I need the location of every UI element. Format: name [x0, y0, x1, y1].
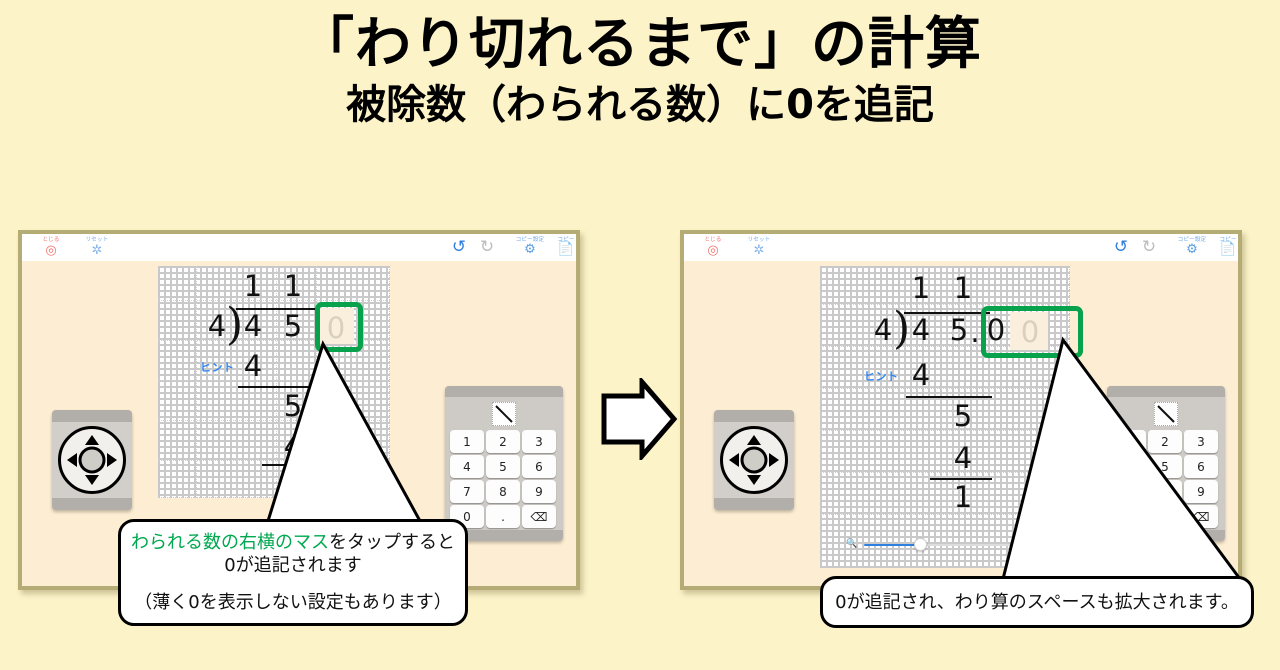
redo-arrow-icon: ↻	[474, 239, 500, 256]
key-1[interactable]: 1	[450, 430, 484, 453]
hint-product-digit: 4	[240, 352, 266, 381]
copy-button[interactable]: コピー 📄	[550, 237, 580, 256]
app-toolbar-after: とじる ◎ リセット ✲ ↺ ↻ コピー設定 ⚙ コピー 📄	[684, 234, 1238, 261]
keypad-top-cap	[445, 386, 563, 397]
arrow-down-icon[interactable]	[85, 475, 99, 485]
undo-arrow-icon: ↺	[1108, 239, 1134, 256]
callout-line-1: わられる数の右横のマスをタップすると	[121, 531, 465, 554]
redo-button[interactable]: ↻	[474, 239, 500, 256]
key-5[interactable]: 5	[1148, 455, 1182, 478]
key-7[interactable]: 7	[450, 480, 484, 503]
reset-button[interactable]: リセット ✲	[736, 237, 782, 257]
callout-emphasis: わられる数の右横のマス	[131, 532, 329, 553]
copy-settings-button[interactable]: コピー設定 ⚙	[1170, 237, 1214, 256]
copy-button[interactable]: コピー 📄	[1212, 237, 1242, 256]
dpad-control-after[interactable]	[714, 410, 794, 510]
key-3[interactable]: 3	[522, 430, 556, 453]
key-8[interactable]: 8	[1148, 480, 1182, 503]
dpad-bottom-cap	[52, 498, 132, 510]
highlight-box-before	[315, 302, 363, 352]
arrow-left-icon[interactable]	[729, 453, 739, 467]
step-flow-arrow	[598, 378, 678, 460]
dpad-bottom-cap	[714, 498, 794, 510]
keypad-top-cap	[1107, 386, 1225, 397]
slash-strike-icon[interactable]	[1154, 402, 1178, 426]
app-toolbar-before: とじる ◎ リセット ✲ ↺ ↻ コピー設定 ⚙ コピー 📄	[22, 234, 576, 261]
page-title: 「わり切れるまで」の計算	[0, 14, 1280, 76]
key-7[interactable]: 7	[1112, 480, 1146, 503]
undo-button[interactable]: ↺	[1108, 239, 1134, 256]
undo-button[interactable]: ↺	[446, 239, 472, 256]
reset-button[interactable]: リセット ✲	[74, 237, 120, 257]
undo-arrow-icon: ↺	[446, 239, 472, 256]
dividend-digit-1: 4	[240, 312, 266, 341]
division-worksheet-before[interactable]: 1 1 4 ) 4 5 0 ヒント 4 5 4 1	[158, 266, 390, 498]
dpad-center-icon[interactable]	[79, 447, 106, 474]
key-0[interactable]: 0	[1112, 505, 1146, 528]
close-button[interactable]: とじる ◎	[690, 237, 736, 257]
product-2-digit: 4	[280, 432, 306, 461]
arrow-right-icon[interactable]	[769, 453, 779, 467]
key-5[interactable]: 5	[486, 455, 520, 478]
magnifier-small-icon[interactable]: 🔍	[846, 539, 857, 549]
slash-strike-icon[interactable]	[492, 402, 516, 426]
keypad-grid-before: 1 2 3 4 5 6 7 8 9 0 . ⌫	[450, 430, 558, 528]
redo-button[interactable]: ↻	[1136, 239, 1162, 256]
quotient-digit-1: 1	[908, 274, 934, 303]
product-2-digit: 4	[950, 444, 976, 473]
key-1[interactable]: 1	[1112, 430, 1146, 453]
arrow-right-icon[interactable]	[107, 453, 117, 467]
hint-label: ヒント	[200, 362, 235, 373]
arrow-left-icon[interactable]	[67, 453, 77, 467]
reset-spinner-icon: ✲	[736, 244, 782, 257]
remainder-1-digit: 5	[950, 402, 976, 431]
callout-line-1-rest: をタップすると	[329, 532, 455, 553]
arrow-up-icon[interactable]	[85, 435, 99, 445]
dpad-top-cap	[52, 410, 132, 422]
zoom-slider-knob[interactable]	[914, 538, 927, 551]
close-target-icon: ◎	[690, 244, 736, 257]
quotient-digit-2: 1	[950, 274, 976, 303]
subtract-bar-1	[906, 396, 992, 398]
page-subtitle: 被除数（わられる数）に0を追記	[0, 80, 1280, 130]
quotient-digit-1: 1	[240, 272, 266, 301]
numeric-keypad-after[interactable]: 1 2 3 4 5 6 7 8 9 0 . ⌫	[1107, 386, 1225, 541]
numeric-keypad-before[interactable]: 1 2 3 4 5 6 7 8 9 0 . ⌫	[445, 386, 563, 541]
remainder-2-digit: 1	[280, 469, 306, 498]
key-8[interactable]: 8	[486, 480, 520, 503]
arrow-up-icon[interactable]	[747, 435, 761, 445]
key-9[interactable]: 9	[522, 480, 556, 503]
callout-before: わられる数の右横のマスをタップすると 0が追記されます （薄く0を表示しない設定…	[118, 519, 468, 626]
key-9[interactable]: 9	[1184, 480, 1218, 503]
close-button[interactable]: とじる ◎	[28, 237, 74, 257]
copy-settings-button[interactable]: コピー設定 ⚙	[508, 237, 552, 256]
key-decimal[interactable]: .	[486, 505, 520, 528]
key-decimal[interactable]: .	[1148, 505, 1182, 528]
remainder-2-digit: 1	[950, 483, 976, 512]
page-heading: 「わり切れるまで」の計算 被除数（わられる数）に0を追記	[0, 14, 1280, 130]
key-2[interactable]: 2	[1148, 430, 1182, 453]
redo-arrow-icon: ↻	[1136, 239, 1162, 256]
key-6[interactable]: 6	[1184, 455, 1218, 478]
keypad-grid-after: 1 2 3 4 5 6 7 8 9 0 . ⌫	[1112, 430, 1220, 528]
page-root: 「わり切れるまで」の計算 被除数（わられる数）に0を追記 とじる ◎ リセット …	[0, 0, 1280, 670]
dividend-digit-2: 5	[280, 312, 306, 341]
reset-spinner-icon: ✲	[74, 244, 120, 257]
callout-line-3: （薄く0を表示しない設定もあります）	[121, 591, 465, 614]
magnifier-large-icon[interactable]: 🔍	[1035, 539, 1046, 549]
decimal-point: .	[968, 318, 982, 347]
key-2[interactable]: 2	[486, 430, 520, 453]
gear-icon: ⚙	[1170, 243, 1214, 256]
key-4[interactable]: 4	[1112, 455, 1146, 478]
callout-after-text: 0が追記され、わり算のスペースも拡大されます。	[823, 591, 1251, 615]
remainder-1-digit: 5	[280, 392, 306, 421]
hint-label: ヒント	[864, 371, 899, 382]
quotient-digit-2: 1	[280, 272, 306, 301]
subtract-bar-1	[238, 386, 320, 388]
worksheet-zoom-slider[interactable]: 🔍 🔍	[846, 538, 1046, 552]
dpad-control-before[interactable]	[52, 410, 132, 510]
dividend-digit-1: 4	[908, 316, 934, 345]
key-4[interactable]: 4	[450, 455, 484, 478]
hint-product-digit: 4	[908, 361, 934, 390]
dpad-ring[interactable]	[58, 426, 126, 494]
document-copy-icon: 📄	[550, 243, 580, 256]
gear-icon: ⚙	[508, 243, 552, 256]
arrow-down-icon[interactable]	[747, 475, 761, 485]
dpad-top-cap	[714, 410, 794, 422]
callout-after: 0が追記され、わり算のスペースも拡大されます。	[820, 576, 1254, 628]
dpad-ring[interactable]	[720, 426, 788, 494]
key-3[interactable]: 3	[1184, 430, 1218, 453]
key-6[interactable]: 6	[522, 455, 556, 478]
after-tap-screenshot: とじる ◎ リセット ✲ ↺ ↻ コピー設定 ⚙ コピー 📄	[680, 230, 1242, 590]
dpad-center-icon[interactable]	[741, 447, 768, 474]
highlight-box-after	[981, 306, 1083, 358]
close-target-icon: ◎	[28, 244, 74, 257]
callout-line-2: 0が追記されます	[121, 554, 465, 577]
document-copy-icon: 📄	[1212, 243, 1242, 256]
zoom-slider-fill	[864, 544, 920, 546]
backspace-icon[interactable]: ⌫	[522, 505, 556, 528]
keypad-bottom-cap	[1107, 530, 1225, 541]
backspace-icon[interactable]: ⌫	[1184, 505, 1218, 528]
